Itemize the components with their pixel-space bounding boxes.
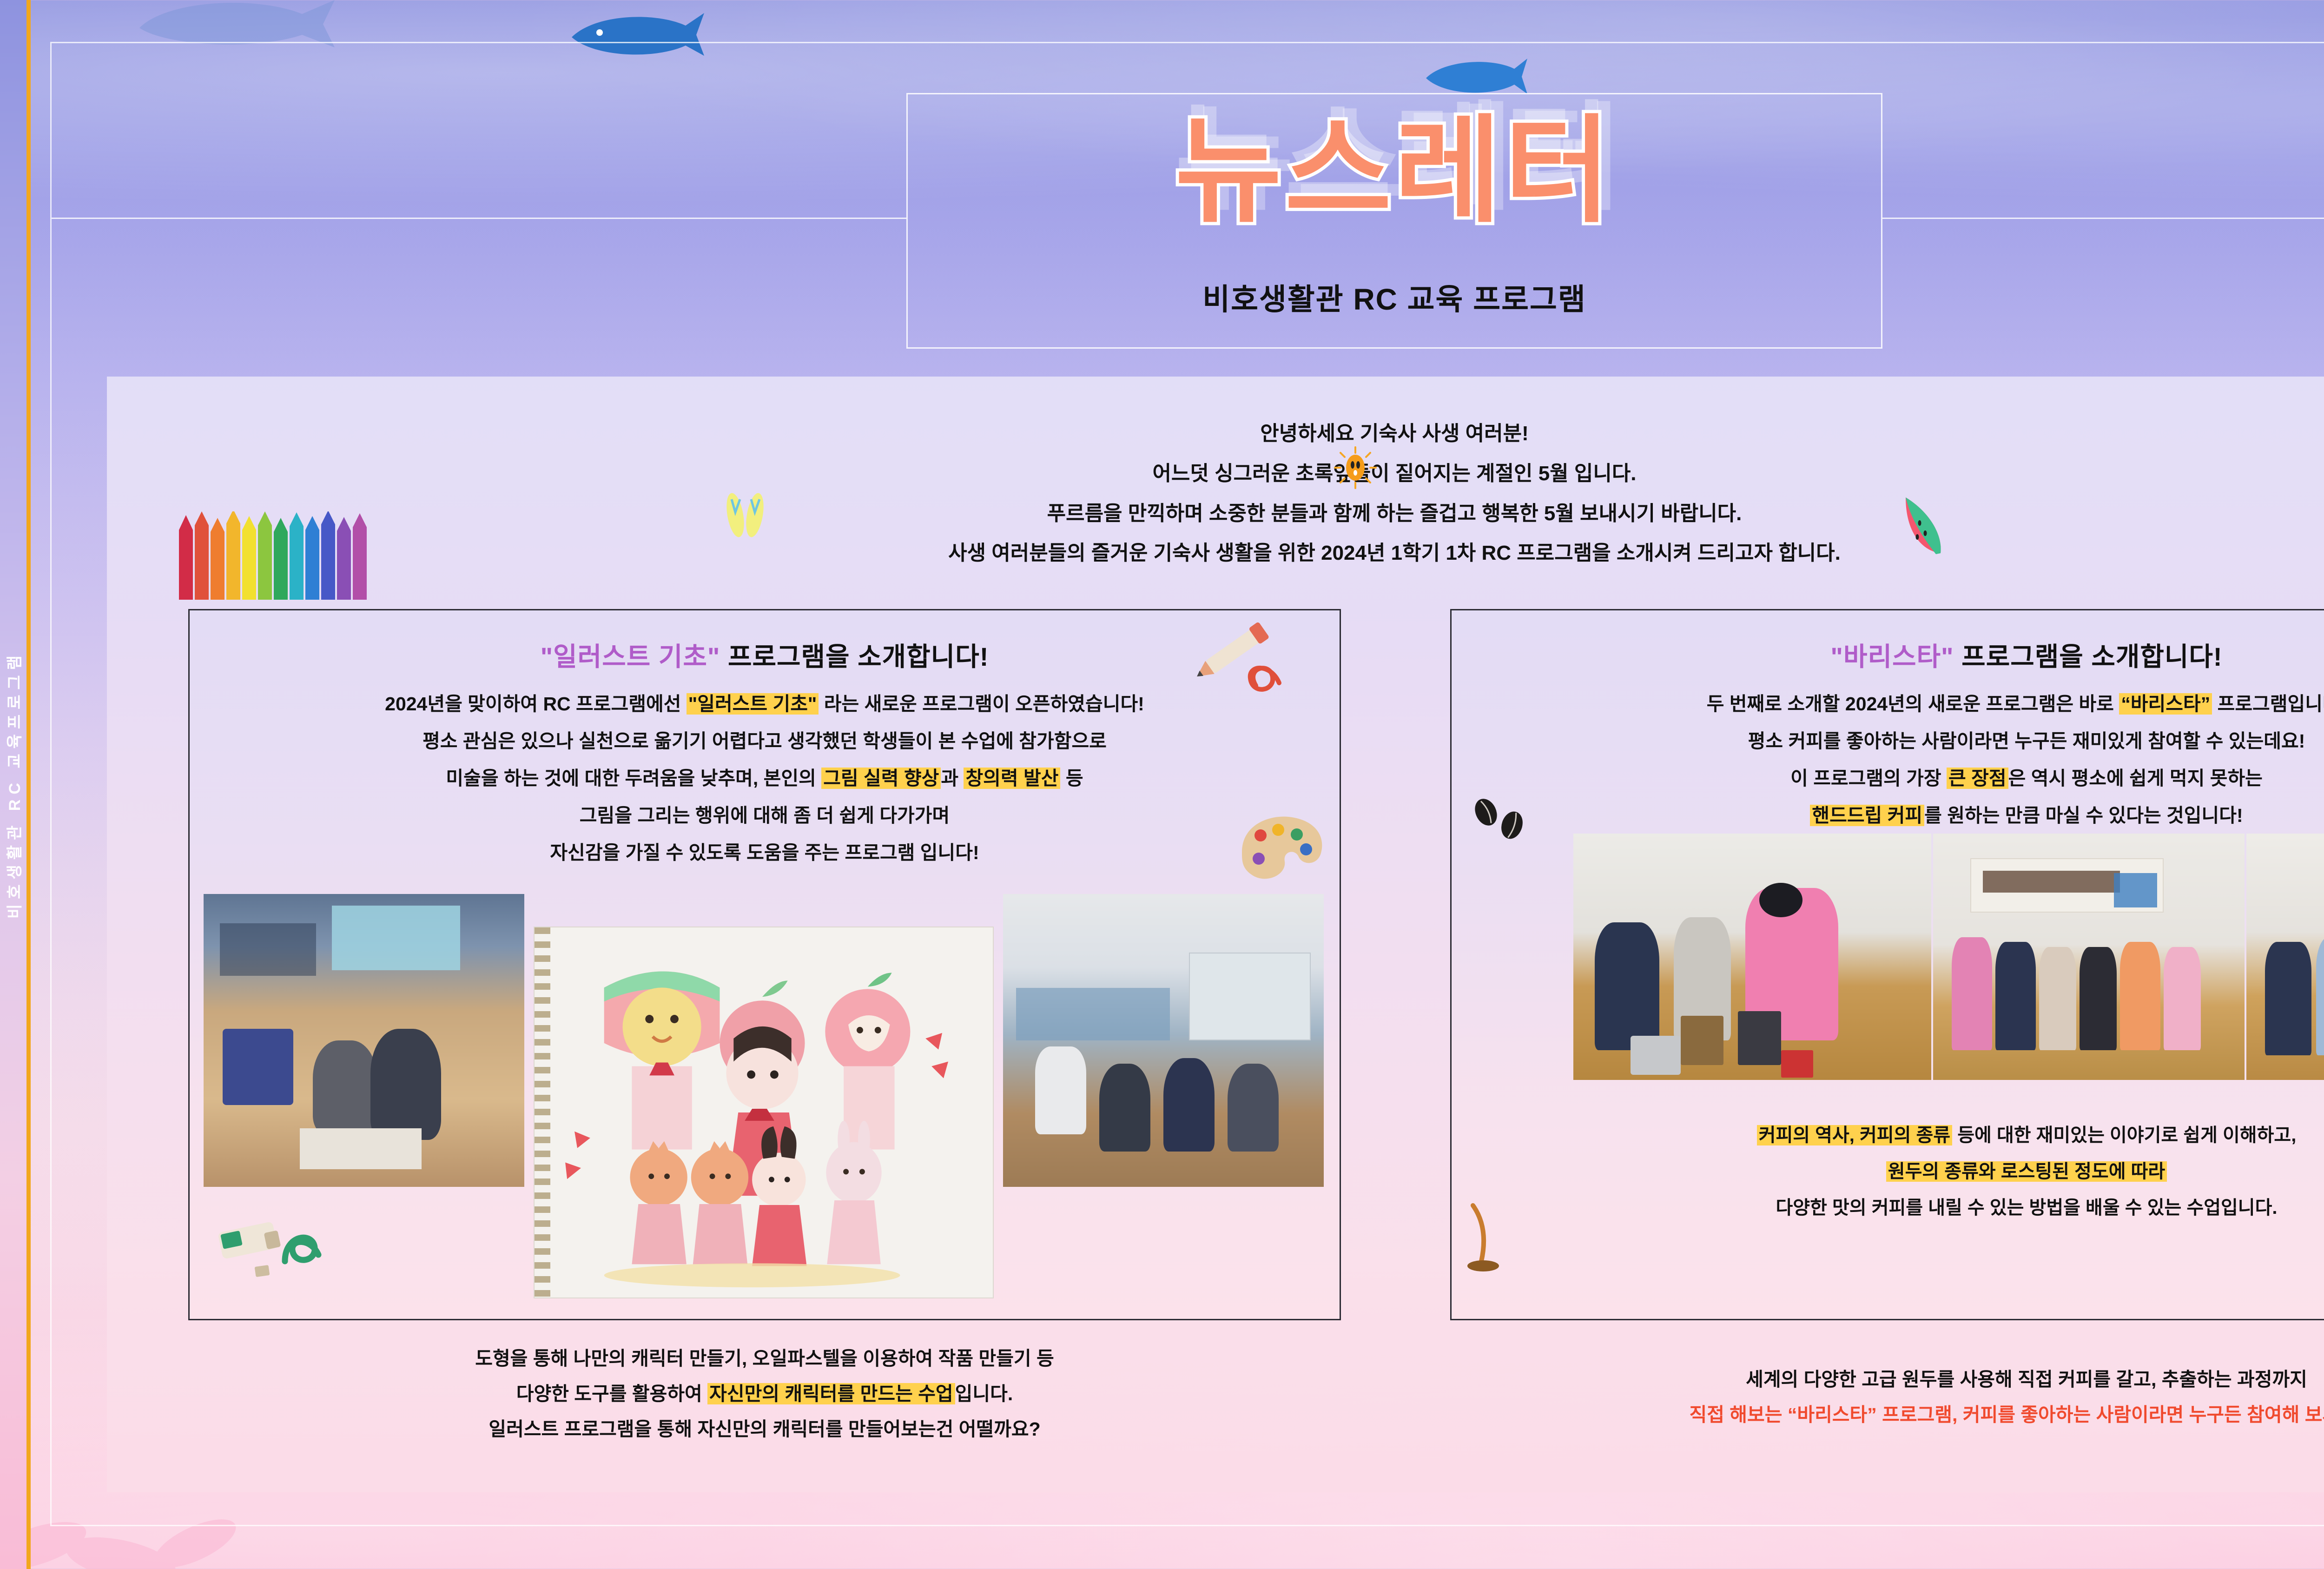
card-right-body: 두 번째로 소개할 2024년의 새로운 프로그램은 바로 “바리스타” 프로그… <box>1452 686 2324 834</box>
masthead-frame: 뉴스레터 뉴스레터 비호생활관 RC 교육 프로그램 <box>906 93 1882 349</box>
card-right-photo-group <box>1452 834 2324 1085</box>
highlight: 커피의 역사, 커피의 종류 <box>1757 1125 1952 1145</box>
coffee-beans-icon <box>1467 796 1537 852</box>
highlight: “바리스타” <box>2119 693 2212 715</box>
green-paint-tube-icon <box>215 1210 336 1284</box>
page-title: 뉴스레터 <box>908 113 1881 229</box>
highlight: 큰 장점 <box>1947 768 2008 789</box>
program-card-illustration: "일러스트 기초" 프로그램을 소개합니다! 2024년을 맞이하여 RC 프로… <box>188 609 1341 1320</box>
highlight: 창의력 발산 <box>964 768 1060 789</box>
card-right-body-line-1: 두 번째로 소개할 2024년의 새로운 프로그램은 바로 “바리스타” 프로그… <box>1470 686 2324 723</box>
card-right-body-line-3: 이 프로그램의 가장 큰 장점은 역시 평소에 쉽게 먹지 못하는 <box>1470 760 2324 797</box>
paint-palette-icon <box>1233 810 1330 889</box>
card-right-heading-rest: 프로그램을 소개합니다! <box>1954 642 2223 671</box>
text: 과 <box>941 768 964 789</box>
main-panel: 안녕하세요 기숙사 사생 여러분! 어느덧 싱그러운 초록잎들이 짙어지는 계절… <box>107 377 2324 1492</box>
header-rule-right <box>1882 218 2324 219</box>
card-left-body: 2024년을 맞이하여 RC 프로그램에선 "일러스트 기초" 라는 새로운 프… <box>190 686 1340 872</box>
card-right-foot-line-2: 원두의 종류와 로스팅된 정도에 따라 <box>1470 1153 2324 1190</box>
caption-right: 세계의 다양한 고급 원두를 사용해 직접 커피를 갈고, 추출하는 과정까지 … <box>1450 1362 2324 1433</box>
photo-barista-tasting-table <box>2246 834 2324 1080</box>
photo-coffee-certification-room <box>1933 834 2245 1080</box>
page-subtitle: 비호생활관 RC 교육 프로그램 <box>908 276 1881 318</box>
text: 은 역시 평소에 쉽게 먹지 못하는 <box>2008 768 2263 789</box>
text: 입니다. <box>955 1383 1013 1404</box>
text: 미술을 하는 것에 대한 두려움을 낮추며, 본인의 <box>446 768 821 789</box>
text: 등 <box>1060 768 1083 789</box>
photo-character-drawing-sketchbook <box>534 927 994 1298</box>
sun-face-icon <box>1334 446 1377 489</box>
photo-illustration-class-wide <box>1003 894 1324 1187</box>
card-right-foot-line-1: 커피의 역사, 커피의 종류 등에 대한 재미있는 이야기로 쉽게 이해하고, <box>1470 1117 2324 1153</box>
highlight: 원두의 종류와 로스팅된 정도에 따라 <box>1886 1161 2167 1182</box>
photo-barista-hand-drip <box>1573 834 1931 1080</box>
caption-left: 도형을 통해 나만의 캐릭터 만들기, 오일파스텔을 이용하여 작품 만들기 등… <box>188 1341 1341 1447</box>
watermelon-slice-icon <box>1896 495 1948 556</box>
card-left-body-line-1: 2024년을 맞이하여 RC 프로그램에선 "일러스트 기초" 라는 새로운 프… <box>208 686 1321 723</box>
caption-right-line-2: 직접 해보는 “바리스타” 프로그램, 커피를 좋아하는 사람이라면 누구든 참… <box>1450 1397 2324 1433</box>
intro-line-1: 안녕하세요 기숙사 사생 여러분! <box>107 414 2324 454</box>
card-right-foot: 커피의 역사, 커피의 종류 등에 대한 재미있는 이야기로 쉽게 이해하고, … <box>1452 1117 2324 1226</box>
header-rule-left <box>52 218 906 219</box>
highlight: 핸드드립 커피 <box>1810 805 1924 826</box>
photo-illustration-class-drawing <box>204 894 524 1187</box>
caption-left-line-3: 일러스트 프로그램을 통해 자신만의 캐릭터를 만들어보는건 어떨까요? <box>188 1412 1341 1447</box>
left-vertical-rail: 비호생활관 RC 교육프로그램 <box>0 0 31 1569</box>
highlight: 자신만의 캐릭터를 만드는 수업 <box>707 1383 955 1404</box>
coffee-pour-icon <box>1456 1196 1540 1275</box>
pencil-heart-icon <box>1186 616 1326 704</box>
card-right-foot-line-3: 다양한 맛의 커피를 내릴 수 있는 방법을 배울 수 있는 수업입니다. <box>1470 1190 2324 1226</box>
left-rail-label: 비호생활관 RC 교육프로그램 <box>2 650 25 919</box>
card-left-body-line-4: 그림을 그리는 행위에 대해 좀 더 쉽게 다가가며 <box>208 797 1321 834</box>
text: 를 원하는 만큼 마실 수 있다는 것입니다! <box>1924 805 2243 826</box>
text: 프로그램입니다! <box>2212 693 2324 715</box>
card-left-body-line-5: 자신감을 가질 수 있도록 도움을 주는 프로그램 입니다! <box>208 834 1321 872</box>
card-right-heading: "바리스타" 프로그램을 소개합니다! <box>1452 636 2324 674</box>
caption-right-line-1: 세계의 다양한 고급 원두를 사용해 직접 커피를 갈고, 추출하는 과정까지 <box>1450 1362 2324 1397</box>
intro-line-3: 푸르름을 만끽하며 소중한 분들과 함께 하는 즐겁고 행복한 5월 보내시기 … <box>107 494 2324 534</box>
card-left-body-line-2: 평소 관심은 있으나 실천으로 옮기기 어렵다고 생각했던 학생들이 본 수업에… <box>208 723 1321 760</box>
program-card-barista: "바리스타" 프로그램을 소개합니다! 두 번째로 소개할 2024년의 새로운… <box>1450 609 2324 1320</box>
card-left-heading-quoted: "일러스트 기초" <box>541 642 720 671</box>
card-right-body-line-2: 평소 커피를 좋아하는 사람이라면 누구든 재미있게 참여할 수 있는데요! <box>1470 723 2324 760</box>
card-left-heading-rest: 프로그램을 소개합니다! <box>720 642 989 671</box>
text: 다양한 도구를 활용하여 <box>516 1383 707 1404</box>
highlight: "일러스트 기초" <box>687 693 819 715</box>
text: 두 번째로 소개할 2024년의 새로운 프로그램은 바로 <box>1707 693 2119 715</box>
caption-left-line-1: 도형을 통해 나만의 캐릭터 만들기, 오일파스텔을 이용하여 작품 만들기 등 <box>188 1341 1341 1377</box>
card-right-body-line-4: 핸드드립 커피를 원하는 만큼 마실 수 있다는 것입니다! <box>1470 797 2324 834</box>
intro-line-2: 어느덧 싱그러운 초록잎들이 짙어지는 계절인 5월 입니다. <box>107 454 2324 494</box>
card-left-body-line-3: 미술을 하는 것에 대한 두려움을 낮추며, 본인의 그림 실력 향상과 창의력… <box>208 760 1321 797</box>
text: 이 프로그램의 가장 <box>1790 768 1947 789</box>
card-left-photo-group <box>190 889 1340 1298</box>
intro-block: 안녕하세요 기숙사 사생 여러분! 어느덧 싱그러운 초록잎들이 짙어지는 계절… <box>107 414 2324 573</box>
text: 라는 새로운 프로그램이 오픈하였습니다! <box>819 693 1144 715</box>
text: 2024년을 맞이하여 RC 프로그램에선 <box>385 693 687 715</box>
card-right-heading-quoted: "바리스타" <box>1830 642 1954 671</box>
card-left-heading: "일러스트 기초" 프로그램을 소개합니다! <box>190 636 1340 674</box>
caption-left-line-2: 다양한 도구를 활용하여 자신만의 캐릭터를 만드는 수업입니다. <box>188 1377 1341 1412</box>
flip-flops-icon <box>720 488 772 539</box>
text: 등에 대한 재미있는 이야기로 쉽게 이해하고, <box>1952 1125 2296 1145</box>
intro-line-4: 사생 여러분들의 즐거운 기숙사 생활을 위한 2024년 1학기 1차 RC … <box>107 533 2324 573</box>
rainbow-crayons-icon <box>179 511 379 604</box>
highlight: 그림 실력 향상 <box>821 768 941 789</box>
